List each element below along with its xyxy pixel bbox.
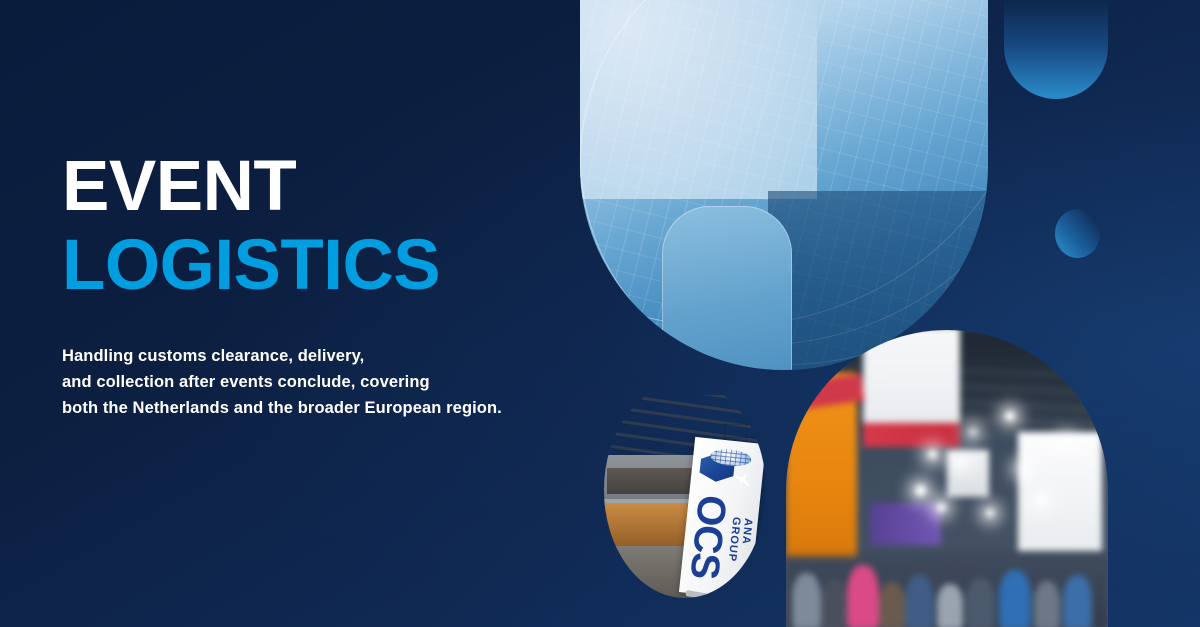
light-10 (1063, 438, 1070, 445)
pill-decoration (1004, 0, 1108, 99)
trade-show-scene (786, 330, 1108, 627)
event-logistics-banner: EVENT LOGISTICS Handling customs clearan… (0, 0, 1200, 627)
airplane-icon (731, 468, 754, 490)
person-2 (821, 579, 847, 627)
copy-block: EVENT LOGISTICS Handling customs clearan… (62, 152, 582, 421)
light-9 (970, 429, 976, 435)
person-4 (879, 582, 905, 627)
body-copy: Handling customs clearance, delivery, an… (62, 302, 582, 421)
light-2 (957, 459, 964, 466)
body-line-1: Handling customs clearance, delivery, (62, 343, 582, 369)
person-1 (792, 573, 821, 627)
person-7 (966, 578, 995, 627)
light-3 (1005, 411, 1015, 421)
page-title: EVENT LOGISTICS (62, 152, 582, 302)
person-8 (999, 570, 1031, 627)
headline-line-1: EVENT (62, 147, 296, 226)
storage-shelving (607, 468, 698, 494)
circle-decoration (1055, 209, 1100, 258)
ocs-warehouse-photo: OCS ANA GROUP (604, 382, 766, 598)
headline-line-2: LOGISTICS (62, 231, 582, 301)
body-line-3: both the Netherlands and the broader Eur… (62, 395, 582, 421)
person-5 (905, 575, 934, 627)
light-7 (986, 509, 994, 517)
light-8 (1037, 497, 1045, 505)
person-10 (1063, 575, 1092, 627)
light-1 (928, 450, 937, 459)
light-4 (1018, 465, 1026, 473)
body-line-2: and collection after events conclude, co… (62, 369, 582, 395)
person-3 (847, 565, 879, 627)
light-6 (937, 503, 946, 512)
person-9 (1034, 581, 1060, 627)
visitor-crowd (786, 551, 1108, 627)
person-6 (937, 584, 963, 627)
ocs-logo (698, 445, 757, 491)
light-5 (915, 485, 926, 496)
inner-tower (662, 206, 793, 370)
trade-show-photo (786, 330, 1108, 627)
modern-glass-building-photo (580, 0, 988, 370)
